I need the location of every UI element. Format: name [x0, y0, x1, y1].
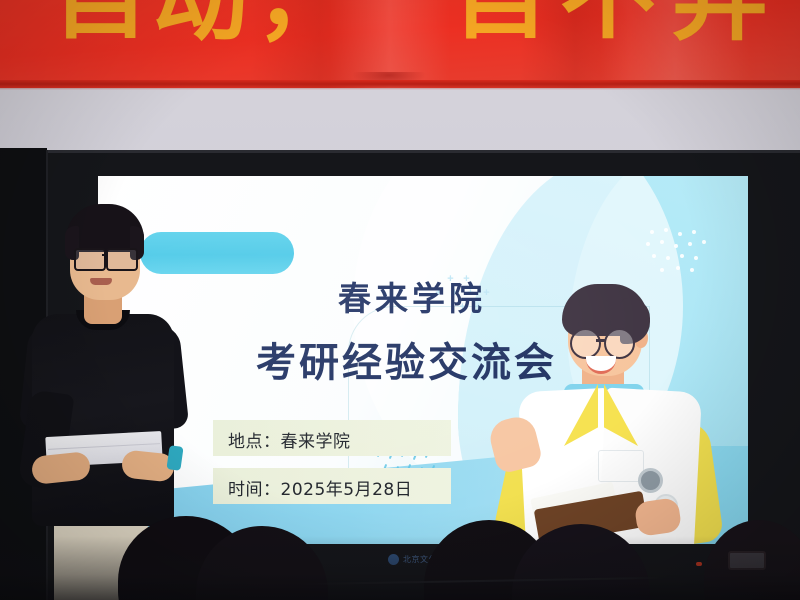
banner-char-2: 动 [152, 0, 248, 46]
presentation-room-photo: 自 动 ， 自 不 弃 ++ ++++ ++ [0, 0, 800, 600]
doctor-coat-pocket [598, 450, 644, 482]
banner-char-5: 不 [560, 0, 656, 44]
banner-char-6: 弃 [672, 0, 768, 46]
banner-lower-edge [0, 80, 800, 90]
speaker-mouth [90, 278, 112, 285]
banner-char-3: ， [256, 0, 348, 46]
speaker-glasses-bridge [102, 254, 107, 256]
slide-title-line1: 春来学院 [338, 272, 486, 320]
doctor-eyebrow-left [578, 322, 593, 326]
speaker-glasses-right-lens [106, 248, 138, 271]
doctor-eyebrow-right [610, 321, 625, 325]
red-motivational-banner: 自 动 ， 自 不 弃 [0, 0, 800, 88]
doctor-glasses-right-lens [604, 328, 635, 359]
banner-char-1: 自 [52, 0, 148, 44]
doctor-glasses-left-lens [570, 328, 601, 359]
speaker-glasses-left-lens [74, 248, 106, 271]
banner-char-4: 自 [452, 0, 548, 44]
bezel-top-edge [0, 150, 800, 153]
slide-info-row-time: 时间：2025年5月28日 [213, 468, 451, 504]
doctor-glasses-bridge [596, 339, 606, 342]
stethoscope-chestpiece [638, 468, 663, 493]
speaker-wristband [166, 445, 183, 471]
foreground-shadow [0, 536, 800, 600]
slide-info-row-location: 地点：春来学院 [213, 420, 451, 456]
slide-info-time-text: 时间：2025年5月28日 [228, 475, 412, 500]
slide-info-location-text: 地点：春来学院 [228, 427, 351, 452]
cartoon-doctor-illustration [486, 272, 736, 544]
